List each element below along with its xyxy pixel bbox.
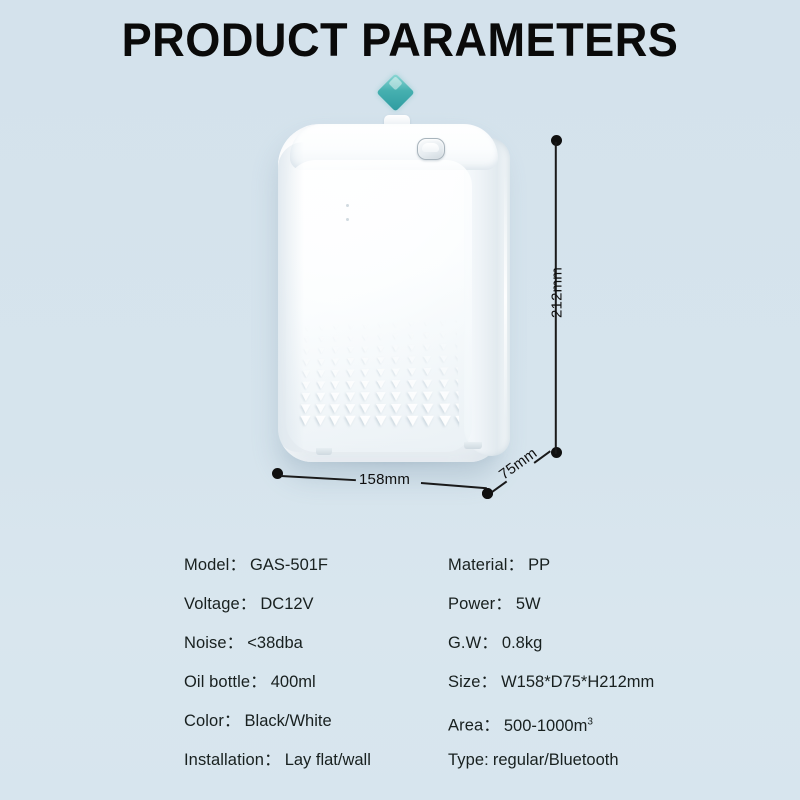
grille-triangle xyxy=(408,333,414,339)
grille-triangle xyxy=(305,326,310,331)
grille-triangle xyxy=(423,356,431,363)
spec-key: Size： xyxy=(448,673,497,691)
grille-triangle xyxy=(422,416,434,426)
grille-triangle xyxy=(455,416,459,427)
grille-triangle xyxy=(301,393,310,401)
spec-row: Type:regular/Bluetooth xyxy=(448,741,654,780)
grille-triangle xyxy=(300,416,311,426)
grille-triangle xyxy=(391,404,402,414)
grille-triangle xyxy=(375,404,385,413)
grille-triangle xyxy=(439,355,447,362)
grille-triangle xyxy=(316,393,325,402)
spec-value-superscript: 3 xyxy=(587,716,593,727)
grille-triangle xyxy=(375,416,386,426)
grille-triangle xyxy=(391,416,402,426)
grille-triangle xyxy=(302,382,310,390)
width-dim-line-left xyxy=(281,475,356,481)
width-dim-line-right xyxy=(421,482,487,489)
grille-triangle xyxy=(424,344,431,350)
diffuser-grille xyxy=(298,318,459,440)
power-button xyxy=(417,138,445,160)
grille-triangle xyxy=(345,404,355,413)
grille-row xyxy=(300,342,457,356)
grille-triangle xyxy=(361,369,369,377)
device-foot-right xyxy=(464,442,482,449)
grille-triangle xyxy=(333,325,338,330)
grille-triangle xyxy=(406,416,417,426)
grille-triangle xyxy=(378,323,383,328)
grille-triangle xyxy=(360,416,371,426)
grille-triangle xyxy=(407,380,416,388)
grille-triangle xyxy=(363,324,368,329)
spec-key: Noise： xyxy=(184,634,243,652)
grille-triangle xyxy=(377,357,385,364)
spec-value: Lay flat/wall xyxy=(285,751,371,769)
spec-value: GAS-501F xyxy=(250,556,328,574)
spec-row: Oil bottle：400ml xyxy=(184,663,371,702)
grille-triangle xyxy=(392,345,399,351)
grille-triangle xyxy=(362,335,368,341)
grille-row xyxy=(299,416,460,426)
spec-key: Voltage： xyxy=(184,595,256,613)
specs-column-left: Model：GAS-501FVoltage：DC12VNoise：<38dbaO… xyxy=(184,546,371,780)
grille-triangle xyxy=(439,416,451,426)
grille-triangle xyxy=(362,358,369,365)
grille-row xyxy=(300,354,458,367)
spec-key: Type: xyxy=(448,751,489,769)
grille-triangle xyxy=(439,404,450,414)
grille-triangle xyxy=(423,392,433,401)
spec-value: W158*D75*H212mm xyxy=(501,673,654,691)
grille-triangle xyxy=(439,379,449,387)
spec-value: 0.8kg xyxy=(502,634,542,652)
spec-row: Noise：<38dba xyxy=(184,624,371,663)
grille-triangle xyxy=(347,335,353,341)
spec-row: Model：GAS-501F xyxy=(184,546,371,585)
grille-triangle xyxy=(316,381,324,389)
grille-triangle xyxy=(346,381,355,389)
grille-triangle xyxy=(360,392,369,401)
grille-triangle xyxy=(423,368,432,376)
grille-triangle xyxy=(377,334,383,340)
page-title: PRODUCT PARAMETERS xyxy=(16,14,784,66)
mist-diamond-icon xyxy=(376,73,414,111)
grille-triangle xyxy=(393,322,398,327)
grille-triangle xyxy=(376,369,384,377)
grille-row xyxy=(300,366,458,378)
grille-triangle xyxy=(330,404,340,413)
product-image xyxy=(268,112,518,462)
grille-triangle xyxy=(376,392,386,401)
grille-triangle xyxy=(317,370,325,377)
grille-row xyxy=(300,379,459,390)
product-parameters-page: PRODUCT PARAMETERS 212mm 158mm 75mm Mode… xyxy=(0,0,800,800)
grille-triangle xyxy=(347,347,354,353)
led-indicator-top xyxy=(346,204,349,207)
spec-key: Model： xyxy=(184,556,246,574)
grille-triangle xyxy=(439,344,446,350)
grille-triangle xyxy=(393,334,399,340)
device-foot-left xyxy=(316,448,332,455)
grille-triangle xyxy=(347,358,354,365)
grille-triangle xyxy=(301,404,311,413)
grille-triangle xyxy=(439,391,449,400)
grille-triangle xyxy=(304,337,310,342)
spec-value: Black/White xyxy=(245,712,332,730)
grille-triangle xyxy=(376,380,385,388)
spec-value: regular/Bluetooth xyxy=(493,751,619,769)
grille-triangle xyxy=(332,358,339,365)
spec-key: Oil bottle： xyxy=(184,673,267,691)
grille-triangle xyxy=(346,369,354,376)
spec-row: Size：W158*D75*H212mm xyxy=(448,663,654,702)
spec-value: 5W xyxy=(516,595,541,613)
spec-row: Material：PP xyxy=(448,546,654,585)
spec-row: G.W：0.8kg xyxy=(448,624,654,663)
grille-triangle xyxy=(391,380,400,388)
spec-key: G.W： xyxy=(448,634,498,652)
spec-key: Color： xyxy=(184,712,241,730)
grille-triangle xyxy=(392,357,400,364)
spec-value: PP xyxy=(528,556,550,574)
width-dim-label: 158mm xyxy=(359,471,410,488)
spec-row: Installation：Lay flat/wall xyxy=(184,741,371,780)
grille-triangle xyxy=(392,368,400,376)
grille-triangle xyxy=(317,359,324,366)
grille-row xyxy=(299,391,458,401)
grille-triangle xyxy=(333,336,339,342)
grille-triangle xyxy=(391,392,401,401)
device-edge-highlight xyxy=(504,172,507,422)
grille-triangle xyxy=(345,392,354,401)
spec-value: <38dba xyxy=(247,634,303,652)
spec-value: 500-1000m3 xyxy=(504,717,593,735)
spec-key: Area： xyxy=(448,717,500,735)
grille-triangle xyxy=(361,381,370,389)
grille-triangle xyxy=(331,370,339,377)
grille-triangle xyxy=(319,326,324,331)
width-dim-dot-left xyxy=(272,468,283,479)
grille-triangle xyxy=(424,321,430,326)
grille-triangle xyxy=(440,332,447,338)
spec-row: Voltage：DC12V xyxy=(184,585,371,624)
spec-row: Area：500-1000m3 xyxy=(448,702,654,741)
spec-key: Material： xyxy=(448,556,524,574)
spec-row: Power：5W xyxy=(448,585,654,624)
spec-row: Color：Black/White xyxy=(184,702,371,741)
grille-triangle xyxy=(407,404,418,414)
grille-row xyxy=(299,404,459,414)
grille-triangle xyxy=(318,336,324,341)
grille-triangle xyxy=(315,416,326,426)
grille-triangle xyxy=(303,359,310,366)
grille-triangle xyxy=(423,404,434,414)
grille-triangle xyxy=(439,367,448,375)
led-indicator-bottom xyxy=(346,218,349,221)
grille-triangle xyxy=(304,348,310,354)
grille-triangle xyxy=(302,370,310,377)
grille-triangle xyxy=(440,320,446,325)
grille-triangle xyxy=(329,416,340,426)
grille-triangle xyxy=(408,322,414,327)
grille-triangle xyxy=(407,368,416,376)
grille-triangle xyxy=(348,324,353,329)
grille-triangle xyxy=(330,393,339,402)
grille-triangle xyxy=(344,416,355,426)
spec-value: DC12V xyxy=(260,595,313,613)
spec-key: Power： xyxy=(448,595,512,613)
grille-triangle xyxy=(424,333,430,339)
grille-triangle xyxy=(332,347,339,353)
grille-triangle xyxy=(318,348,325,354)
grille-triangle xyxy=(423,380,432,388)
spec-key: Installation： xyxy=(184,751,281,769)
grille-triangle xyxy=(331,381,340,389)
grille-triangle xyxy=(408,356,416,363)
grille-triangle xyxy=(362,346,369,352)
grille-triangle xyxy=(315,404,325,413)
spec-value: 400ml xyxy=(271,673,316,691)
height-dim-label: 212mm xyxy=(549,263,566,323)
grille-triangle xyxy=(407,392,417,401)
grille-triangle xyxy=(377,346,384,352)
grille-triangle xyxy=(408,345,415,351)
specs-column-right: Material：PPPower：5WG.W：0.8kgSize：W158*D7… xyxy=(448,546,654,780)
grille-triangle xyxy=(360,404,370,413)
specifications-table: Model：GAS-501FVoltage：DC12VNoise：<38dbaO… xyxy=(0,546,800,800)
